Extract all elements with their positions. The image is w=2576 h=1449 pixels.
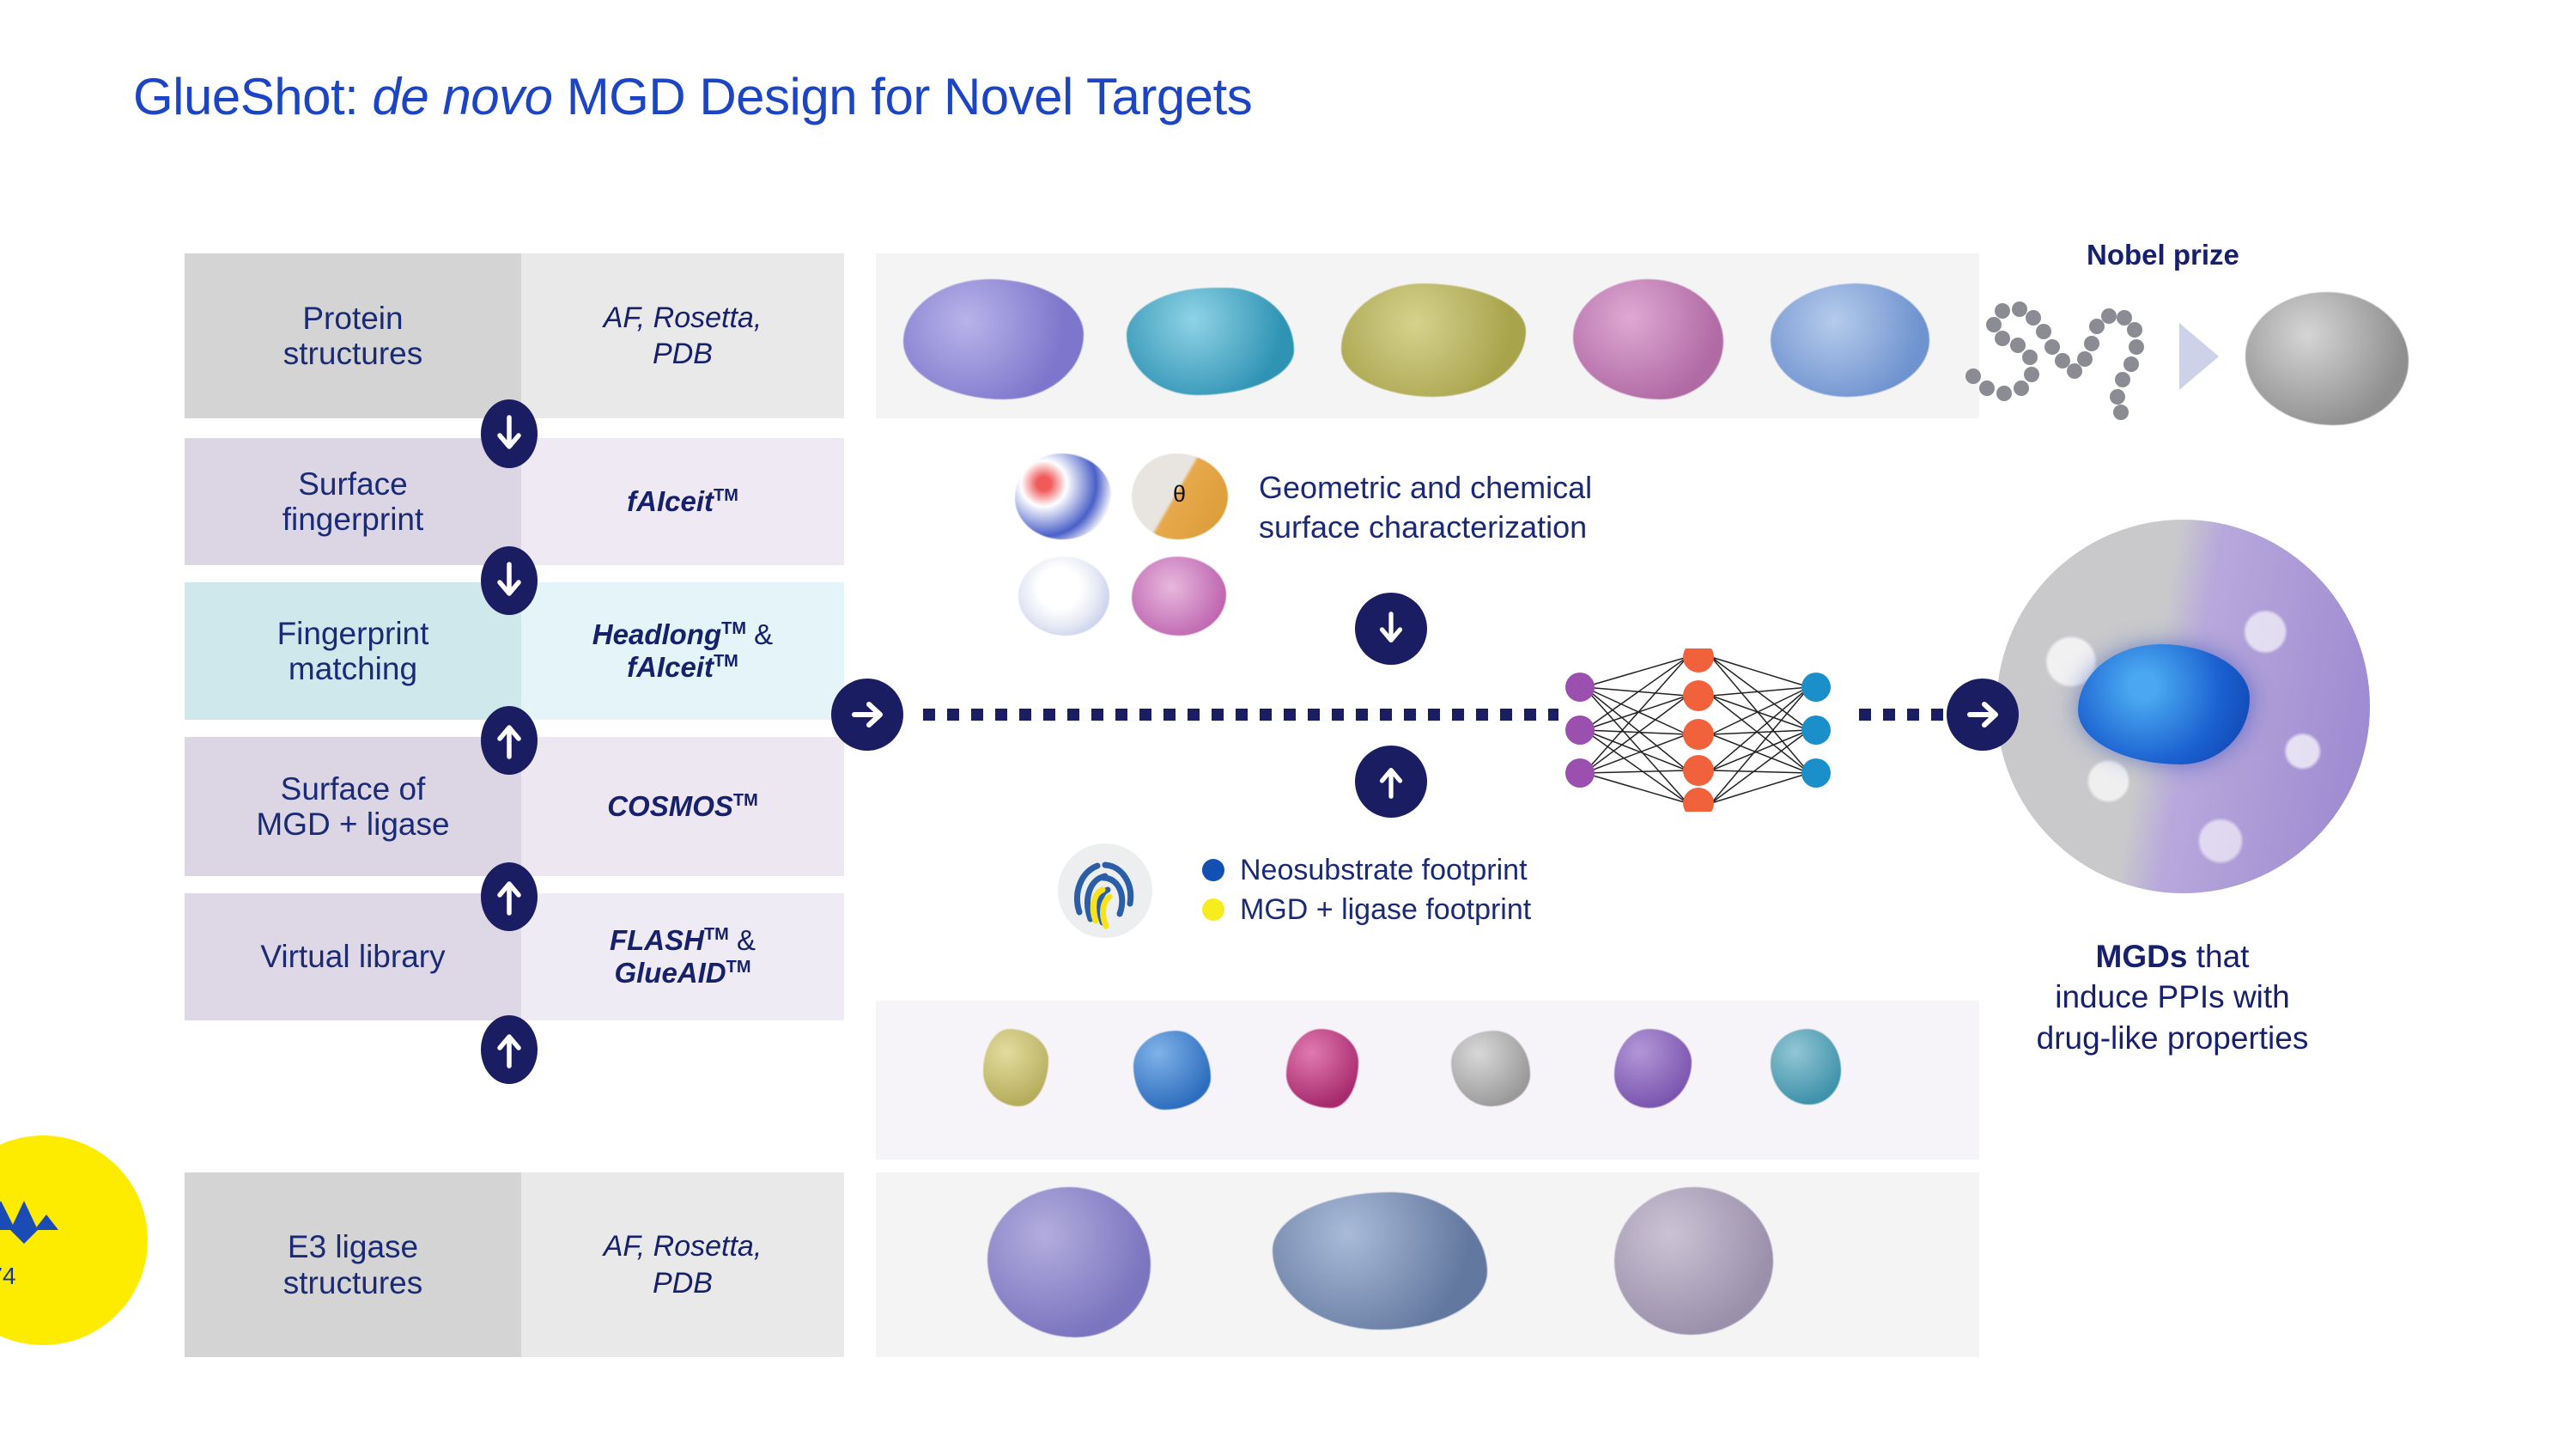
legend-label: MGD + ligase footprint <box>1240 893 1531 927</box>
molecule-glyph <box>1286 1029 1358 1108</box>
arrow-up-pill[interactable] <box>481 706 538 775</box>
stage-label-cell: Surface of MGD + ligase <box>185 737 521 876</box>
footprint-legend: Neosubstrate footprint MGD + ligase foot… <box>1202 850 1531 929</box>
page-number: 74 <box>0 1263 67 1290</box>
flow-connector-dotted-right <box>1859 709 1945 721</box>
arrow-down-icon <box>1374 610 1408 648</box>
tool-label: HeadlongTM &fAIceitTM <box>592 618 773 684</box>
tool-label: AF, Rosetta, PDB <box>604 1228 762 1301</box>
stage-label-cell: Protein structures <box>185 253 521 418</box>
network-to-result-arrow-button[interactable] <box>1947 679 2019 751</box>
folded-protein-icon <box>2245 292 2409 425</box>
protein-blob <box>903 279 1084 399</box>
outcome-line2: induce PPIs with <box>2055 979 2290 1014</box>
outcome-bold: MGDs <box>2096 939 2188 974</box>
surface-patch-electrostatic <box>1015 454 1111 539</box>
surface-patch-electrostatic <box>1018 557 1109 636</box>
surface-characterization-caption: Geometric and chemical surface character… <box>1259 468 1592 547</box>
legend-dot-mgd-ligase <box>1202 898 1224 921</box>
outcome-caption: MGDs that induce PPIs with drug-like pro… <box>1932 936 2413 1058</box>
page-badge: 74 <box>0 1135 148 1345</box>
arrow-down-pill[interactable] <box>481 399 538 468</box>
tool-label: COSMOSTM <box>607 790 758 823</box>
network-input-nodes <box>1565 673 1595 788</box>
triangle-right-icon <box>2172 318 2224 395</box>
e3-ligase-blob <box>1614 1187 1773 1335</box>
legend-item: MGD + ligase footprint <box>1202 890 1531 929</box>
stage-label-cell: Surface fingerprint <box>185 438 521 565</box>
molecular-glue-molecule <box>2078 644 2250 764</box>
arrow-right-icon <box>846 693 889 736</box>
arrow-down-icon <box>495 414 524 454</box>
polypeptide-chain-icon <box>1958 292 2190 421</box>
title-italic-part: de novo <box>373 68 553 125</box>
stage-label: E3 ligase structures <box>283 1229 422 1300</box>
tool-label: fAIceitTM <box>627 485 738 518</box>
protein-blob <box>1127 288 1294 395</box>
arrow-up-icon <box>1374 763 1408 801</box>
title-part-1: GlueShot: <box>133 68 373 125</box>
network-output-nodes <box>1801 673 1831 788</box>
tool-label-cell: fAIceitTM <box>521 438 844 565</box>
tool-label-cell: HeadlongTM &fAIceitTM <box>521 582 844 720</box>
flow-row: Protein structures AF, Rosetta, PDB <box>185 253 844 418</box>
ppi-complex-render <box>1996 520 2370 893</box>
arrow-up-icon <box>495 1030 524 1069</box>
arrow-right-icon <box>1961 693 2004 736</box>
stage-label: Virtual library <box>260 939 445 974</box>
stage-label-cell: Virtual library <box>185 893 521 1020</box>
stage-label-cell: Fingerprint matching <box>185 582 521 720</box>
fingerprint-icon <box>1058 843 1152 938</box>
legend-dot-neosubstrate <box>1202 859 1224 881</box>
surface-down-arrow-pill[interactable] <box>1355 593 1427 665</box>
arrow-up-icon <box>495 877 524 916</box>
tool-label-cell: COSMOSTM <box>521 737 844 876</box>
flow-connector-dotted-left <box>923 709 1558 721</box>
protein-blob <box>1771 283 1929 397</box>
arrow-up-icon <box>495 721 524 760</box>
surface-patch-hydrophobic <box>1132 557 1226 636</box>
arrow-up-pill[interactable] <box>481 862 538 931</box>
stage-label-cell: E3 ligase structures <box>185 1172 521 1357</box>
neural-network-diagram <box>1558 648 1842 812</box>
flow-to-network-arrow-button[interactable] <box>831 679 903 751</box>
legend-item: Neosubstrate footprint <box>1202 850 1531 890</box>
stage-label: Surface fingerprint <box>283 466 424 538</box>
arrow-down-pill[interactable] <box>481 546 538 615</box>
tool-label-cell: AF, Rosetta, PDB <box>521 1172 844 1357</box>
legend-label: Neosubstrate footprint <box>1240 854 1528 887</box>
network-hidden-nodes <box>1683 648 1714 812</box>
arrow-up-pill[interactable] <box>481 1015 538 1084</box>
arrow-down-icon <box>495 561 524 600</box>
molecule-glyph <box>1133 1031 1211 1110</box>
nobel-prize-label: Nobel prize <box>2087 239 2239 271</box>
fingerprint-badge <box>1058 843 1152 938</box>
cosmos-up-arrow-pill[interactable] <box>1355 746 1427 818</box>
flow-row: E3 ligase structures AF, Rosetta, PDB <box>185 1172 844 1357</box>
tool-label-cell: AF, Rosetta, PDB <box>521 253 844 418</box>
title-part-2: MGD Design for Novel Targets <box>553 68 1253 125</box>
company-chevron-logo-icon <box>0 1192 64 1245</box>
outcome-rest: that <box>2187 939 2249 974</box>
tool-label-cell: FLASHTM &GlueAIDTM <box>521 893 844 1020</box>
stage-label: Surface of MGD + ligase <box>256 771 449 843</box>
outcome-line3: drug-like properties <box>2037 1020 2309 1056</box>
theta-angle-label: θ <box>1173 481 1186 508</box>
tool-label: FLASHTM &GlueAIDTM <box>610 924 756 989</box>
stage-label: Protein structures <box>283 301 422 372</box>
page-title: GlueShot: de novo MGD Design for Novel T… <box>133 67 1252 126</box>
tool-label: AF, Rosetta, PDB <box>604 300 762 373</box>
stage-label: Fingerprint matching <box>277 616 429 687</box>
